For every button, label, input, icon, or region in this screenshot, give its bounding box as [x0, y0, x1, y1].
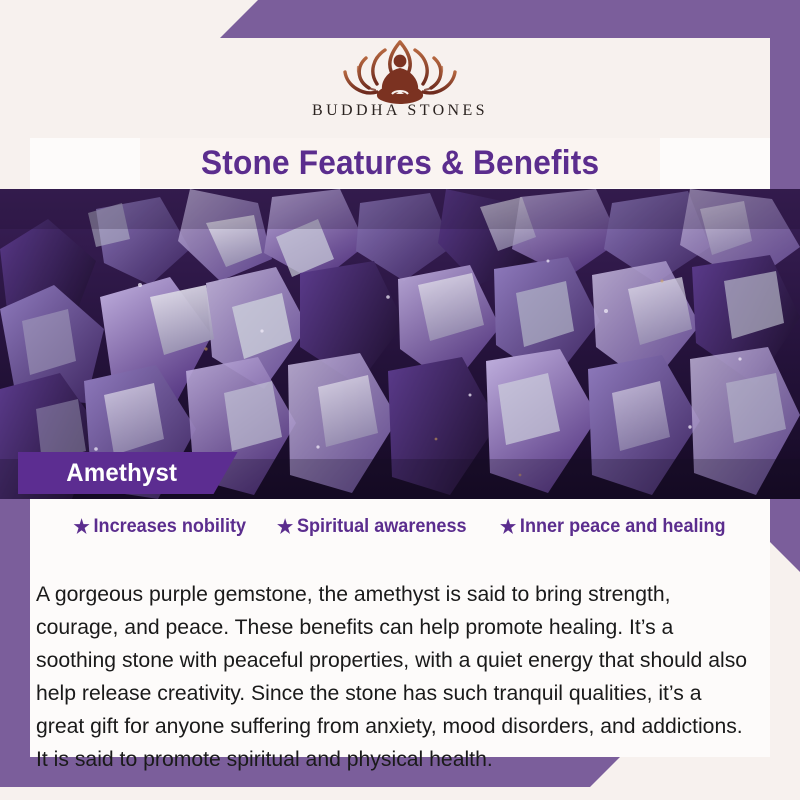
benefit-label: Increases nobility: [93, 516, 245, 538]
frame-top-band: [220, 0, 800, 38]
star-icon: ★: [73, 518, 89, 537]
brand-header: BUDDHA STONES: [30, 38, 770, 138]
benefit-item-spiritual-awareness: ★ Spiritual awareness: [277, 516, 467, 538]
page-title: Stone Features & Benefits: [201, 144, 599, 183]
benefits-row: ★ Increases nobility ★ Spiritual awarene…: [30, 516, 770, 538]
title-band: Stone Features & Benefits: [140, 138, 660, 188]
stone-description: A gorgeous purple gemstone, the amethyst…: [36, 578, 751, 776]
lotus-meditation-figure-icon: [325, 34, 475, 106]
stone-name-ribbon: Amethyst: [18, 452, 238, 494]
stone-name-label: Amethyst: [66, 459, 177, 488]
star-icon: ★: [500, 518, 516, 537]
frame-left-band: [0, 487, 30, 787]
infographic-page: BUDDHA STONES Stone Features & Benefits: [0, 0, 800, 800]
benefit-label: Inner peace and healing: [520, 516, 726, 538]
star-icon: ★: [277, 518, 293, 537]
benefit-label: Spiritual awareness: [297, 516, 467, 538]
brand-name: BUDDHA STONES: [312, 102, 488, 120]
benefit-item-inner-peace-and-healing: ★ Inner peace and healing: [500, 516, 726, 538]
benefit-item-increases-nobility: ★ Increases nobility: [73, 516, 245, 538]
